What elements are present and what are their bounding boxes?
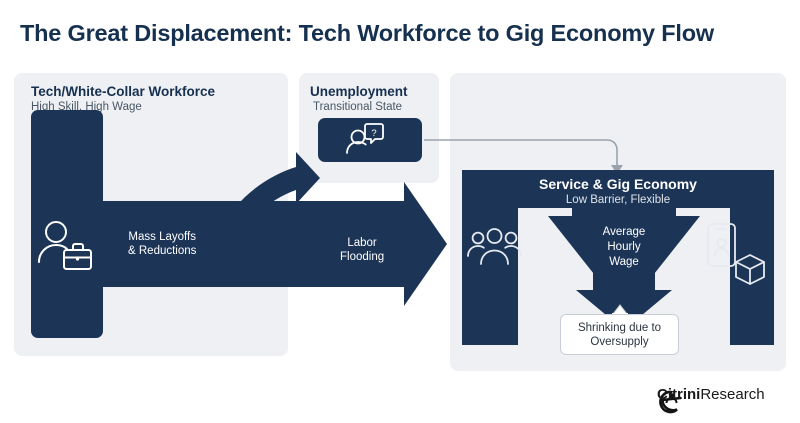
flow-label-line-2: & Reductions (128, 244, 196, 258)
diagram-canvas: The Great Displacement: Tech Workforce t… (0, 0, 800, 423)
right-panel-title: Service & Gig Economy (450, 176, 786, 192)
person-briefcase-icon (39, 222, 91, 269)
svg-text:?: ? (371, 128, 376, 139)
flow-label-line-1: Labor (340, 236, 384, 250)
flow-label-line-2: Flooding (340, 250, 384, 264)
flow-label-mass-layoffs: Mass Layoffs & Reductions (128, 230, 196, 258)
right-panel-subtitle: Low Barrier, Flexible (450, 194, 786, 206)
oversupply-callout: Shrinking due to Oversupply (560, 314, 679, 355)
average-hourly-wage-label: Average Hourly Wage (586, 225, 662, 270)
wage-label-line-3: Wage (586, 255, 662, 270)
wage-label-line-2: Hourly (586, 240, 662, 255)
callout-line-2: Oversupply (578, 335, 661, 349)
brand-name-light: Research (700, 386, 764, 403)
brand-logo: CitriniResearch (657, 386, 765, 403)
flow-label-line-1: Mass Layoffs (128, 230, 196, 244)
brand-name-bold: Citrini (657, 386, 700, 403)
flow-label-labor-flooding: Labor Flooding (340, 236, 384, 264)
connector-unemployment-to-gig (424, 140, 617, 166)
flow-artwork: ? (0, 0, 800, 423)
brand-logo-text: CitriniResearch (657, 386, 765, 403)
person-question-bubble-icon: ? (347, 124, 383, 153)
wage-label-line-1: Average (586, 225, 662, 240)
callout-line-1: Shrinking due to (578, 321, 661, 335)
